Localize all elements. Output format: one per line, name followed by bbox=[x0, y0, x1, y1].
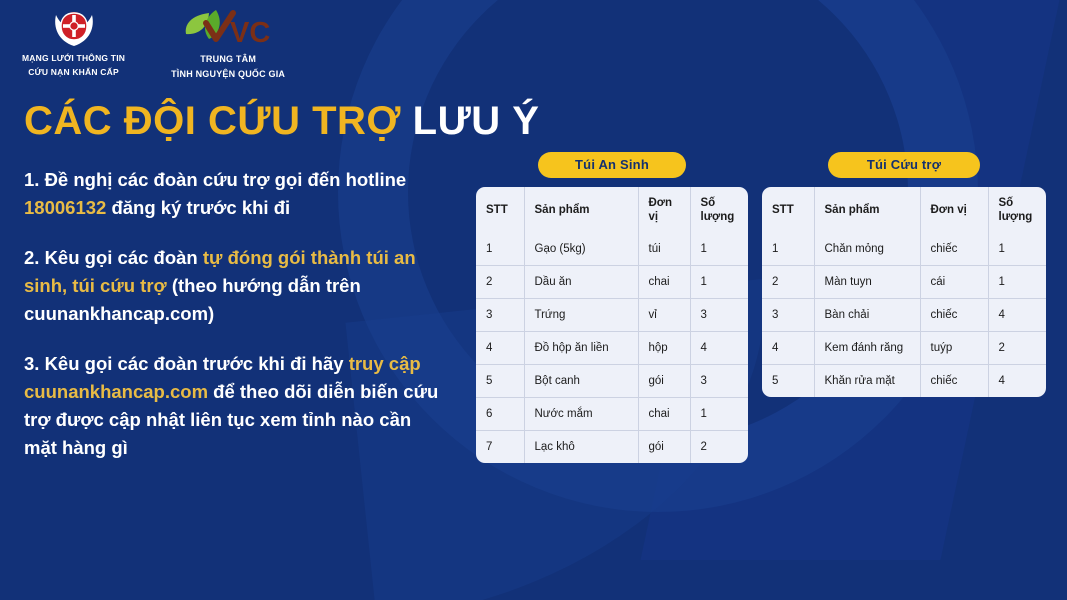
table-cell: 3 bbox=[476, 299, 524, 332]
logo-volunteer-center-line2: TÌNH NGUYỆN QUỐC GIA bbox=[171, 68, 285, 80]
column-header-stt: STT bbox=[762, 187, 814, 233]
table-cell: 1 bbox=[690, 266, 748, 299]
bullet-2: 2. Kêu gọi các đoàn tự đóng gói thành tú… bbox=[24, 244, 444, 328]
column-header-sản-phẩm: Sản phẩm bbox=[814, 187, 920, 233]
table-cell: 6 bbox=[476, 398, 524, 431]
table-row: 2Dầu ănchai1 bbox=[476, 266, 748, 299]
table-cell: 5 bbox=[762, 365, 814, 398]
table-cell: Bột canh bbox=[524, 365, 638, 398]
table-cell: 1 bbox=[690, 398, 748, 431]
table-cell: tuýp bbox=[920, 332, 988, 365]
table-cell: 4 bbox=[988, 299, 1046, 332]
table-row: 1Gạo (5kg)túi1 bbox=[476, 233, 748, 266]
bullet-1-segment-1: 18006132 bbox=[24, 197, 106, 218]
table-row: 5Khăn rửa mặtchiếc4 bbox=[762, 365, 1046, 398]
table-cell: gói bbox=[638, 365, 690, 398]
table-cell: chai bbox=[638, 398, 690, 431]
table-row: 5Bột canhgói3 bbox=[476, 365, 748, 398]
table-cell: 5 bbox=[476, 365, 524, 398]
table-cell: Đồ hộp ăn liền bbox=[524, 332, 638, 365]
table-cell: 2 bbox=[762, 266, 814, 299]
table-row: 7Lạc khôgói2 bbox=[476, 431, 748, 464]
table-tab-tui-cuu-tro[interactable]: Túi Cứu trợ bbox=[828, 152, 980, 178]
table-row: 1Chăn mỏngchiếc1 bbox=[762, 233, 1046, 266]
table-cell: 2 bbox=[690, 431, 748, 464]
table-cell: cái bbox=[920, 266, 988, 299]
table-cell: 3 bbox=[690, 299, 748, 332]
table-cell: 3 bbox=[762, 299, 814, 332]
bullet-1-segment-2: đăng ký trước khi đi bbox=[106, 197, 290, 218]
table-cell: Nước mắm bbox=[524, 398, 638, 431]
table-cell: 2 bbox=[476, 266, 524, 299]
table-cell: Kem đánh răng bbox=[814, 332, 920, 365]
table-cell: hộp bbox=[638, 332, 690, 365]
table-cell: chiếc bbox=[920, 233, 988, 266]
bullet-2-segment-0: 2. Kêu gọi các đoàn bbox=[24, 247, 203, 268]
table-tab-tui-an-sinh[interactable]: Túi An Sinh bbox=[538, 152, 686, 178]
table-cell: 1 bbox=[690, 233, 748, 266]
svg-text:VC: VC bbox=[230, 17, 270, 49]
table-cell: vỉ bbox=[638, 299, 690, 332]
table-cell: 4 bbox=[988, 365, 1046, 398]
table-panel-tui-cuu-tro: Túi Cứu trợ STTSản phẩmĐơn vịSố lượng1Ch… bbox=[762, 152, 1046, 397]
column-header-số-lượng: Số lượng bbox=[988, 187, 1046, 233]
page-title: CÁC ĐỘI CỨU TRỢ LƯU Ý bbox=[24, 98, 539, 144]
table-row: 3Trứngvỉ3 bbox=[476, 299, 748, 332]
column-header-sản-phẩm: Sản phẩm bbox=[524, 187, 638, 233]
table-panel-tui-an-sinh: Túi An Sinh STTSản phẩmĐơn vịSố lượng1Gạ… bbox=[476, 152, 748, 463]
logo-emergency-rescue: MẠNG LƯỚI THÔNG TIN CỨU NẠN KHẨN CẤP bbox=[22, 8, 125, 78]
column-header-đơn-vị: Đơn vị bbox=[920, 187, 988, 233]
table-row: 3Bàn chảichiếc4 bbox=[762, 299, 1046, 332]
table-tui-cuu-tro: STTSản phẩmĐơn vịSố lượng1Chăn mỏngchiếc… bbox=[762, 187, 1046, 397]
table-cell: túi bbox=[638, 233, 690, 266]
instructions-list: 1. Đề nghị các đoàn cứu trợ gọi đến hotl… bbox=[24, 166, 444, 462]
table-cell: 1 bbox=[988, 233, 1046, 266]
table-cell: 4 bbox=[690, 332, 748, 365]
table-cell: Dầu ăn bbox=[524, 266, 638, 299]
brand-header: MẠNG LƯỚI THÔNG TIN CỨU NẠN KHẨN CẤP VC … bbox=[22, 8, 285, 80]
table-cell: Khăn rửa mặt bbox=[814, 365, 920, 398]
table-row: 4Kem đánh răngtuýp2 bbox=[762, 332, 1046, 365]
logo-volunteer-center-line1: TRUNG TÂM bbox=[200, 53, 256, 65]
table-cell: 2 bbox=[988, 332, 1046, 365]
table-cell: gói bbox=[638, 431, 690, 464]
table-cell: chiếc bbox=[920, 365, 988, 398]
table-row: 4Đồ hộp ăn liềnhộp4 bbox=[476, 332, 748, 365]
page-title-white: LƯU Ý bbox=[413, 99, 540, 143]
table-cell: Trứng bbox=[524, 299, 638, 332]
table-cell: Chăn mỏng bbox=[814, 233, 920, 266]
vc-leaf-emblem-icon: VC bbox=[176, 8, 280, 50]
bullet-3: 3. Kêu gọi các đoàn trước khi đi hãy tru… bbox=[24, 350, 444, 462]
table-cell: chiếc bbox=[920, 299, 988, 332]
table-cell: 1 bbox=[988, 266, 1046, 299]
bullet-3-segment-0: 3. Kêu gọi các đoàn trước khi đi hãy bbox=[24, 353, 349, 374]
table-cell: Lạc khô bbox=[524, 431, 638, 464]
table-cell: 3 bbox=[690, 365, 748, 398]
table-cell: chai bbox=[638, 266, 690, 299]
table-cell: 7 bbox=[476, 431, 524, 464]
table-tui-an-sinh: STTSản phẩmĐơn vịSố lượng1Gạo (5kg)túi12… bbox=[476, 187, 748, 463]
column-header-stt: STT bbox=[476, 187, 524, 233]
logo-emergency-rescue-line1: MẠNG LƯỚI THÔNG TIN bbox=[22, 53, 125, 64]
table-cell: Gạo (5kg) bbox=[524, 233, 638, 266]
table-cell: Bàn chải bbox=[814, 299, 920, 332]
table-cell: 4 bbox=[762, 332, 814, 365]
emergency-rescue-emblem-icon bbox=[48, 8, 100, 50]
logo-volunteer-center: VC TRUNG TÂM TÌNH NGUYỆN QUỐC GIA bbox=[171, 8, 285, 80]
table-row: 6Nước mắmchai1 bbox=[476, 398, 748, 431]
logo-emergency-rescue-line2: CỨU NẠN KHẨN CẤP bbox=[28, 67, 119, 78]
table-cell: Màn tuyn bbox=[814, 266, 920, 299]
table-body-tui-cuu-tro: STTSản phẩmĐơn vịSố lượng1Chăn mỏngchiếc… bbox=[762, 187, 1046, 397]
table-row: 2Màn tuyncái1 bbox=[762, 266, 1046, 299]
table-header-row: STTSản phẩmĐơn vịSố lượng bbox=[762, 187, 1046, 233]
column-header-đơn-vị: Đơn vị bbox=[638, 187, 690, 233]
bullet-1: 1. Đề nghị các đoàn cứu trợ gọi đến hotl… bbox=[24, 166, 444, 222]
table-cell: 1 bbox=[762, 233, 814, 266]
table-header-row: STTSản phẩmĐơn vịSố lượng bbox=[476, 187, 748, 233]
table-cell: 4 bbox=[476, 332, 524, 365]
table-body-tui-an-sinh: STTSản phẩmĐơn vịSố lượng1Gạo (5kg)túi12… bbox=[476, 187, 748, 463]
page-title-gold: CÁC ĐỘI CỨU TRỢ bbox=[24, 99, 401, 143]
bullet-1-segment-0: 1. Đề nghị các đoàn cứu trợ gọi đến hotl… bbox=[24, 169, 406, 190]
table-cell: 1 bbox=[476, 233, 524, 266]
column-header-số-lượng: Số lượng bbox=[690, 187, 748, 233]
